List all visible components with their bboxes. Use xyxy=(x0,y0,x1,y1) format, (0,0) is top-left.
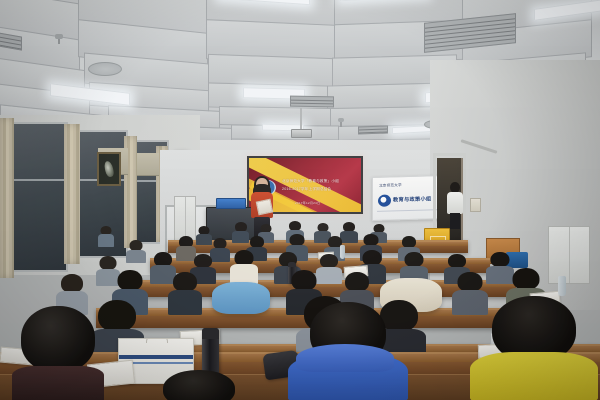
window-curtain xyxy=(64,124,80,264)
hvac-vent-icon xyxy=(358,125,388,134)
window-curtain xyxy=(0,118,14,278)
student xyxy=(168,272,202,312)
banner-logo-icon xyxy=(378,195,391,207)
lecture-hall-photo: 北京师范大学「教育与政策」小组 2016-2017学年上学期总结会 2017年1… xyxy=(0,0,600,400)
blue-jacket-on-chair xyxy=(212,282,270,314)
window-shade xyxy=(137,153,159,176)
laptop xyxy=(216,198,246,209)
window xyxy=(6,122,68,272)
ceiling-projector xyxy=(291,129,312,138)
person-standing-at-door xyxy=(447,182,463,228)
framed-wall-painting xyxy=(97,152,121,186)
student-foreground-left xyxy=(12,306,104,400)
storage-cabinet xyxy=(548,226,590,284)
student xyxy=(230,250,258,282)
water-bottle xyxy=(558,276,566,296)
wall-control-box[interactable] xyxy=(470,198,481,212)
student xyxy=(126,240,146,262)
ceiling-speaker-icon xyxy=(88,62,122,76)
student-foreground-yellow-sweater xyxy=(470,296,598,400)
slide-date-line: 2017年12月24日 xyxy=(295,201,320,206)
hvac-vent-icon xyxy=(290,96,334,108)
slide-title-line-1: 北京师范大学「教育与政策」小组 xyxy=(282,179,339,184)
student-foreground-center xyxy=(156,370,242,400)
student xyxy=(98,226,114,246)
sprinkler-icon xyxy=(55,34,63,39)
slide-title-line-2: 2016-2017学年上学期总结会 xyxy=(282,187,331,192)
banner-org-line: 北京师范大学 xyxy=(379,183,402,189)
banner-divider xyxy=(377,209,441,212)
bag-stripe xyxy=(119,355,193,359)
projector-mount xyxy=(300,108,302,130)
bag-handle xyxy=(146,338,168,343)
sprinkler-icon xyxy=(338,118,344,122)
banner-main-line: 教育与政策小组 xyxy=(393,195,431,203)
hoodie-hood xyxy=(296,344,394,372)
